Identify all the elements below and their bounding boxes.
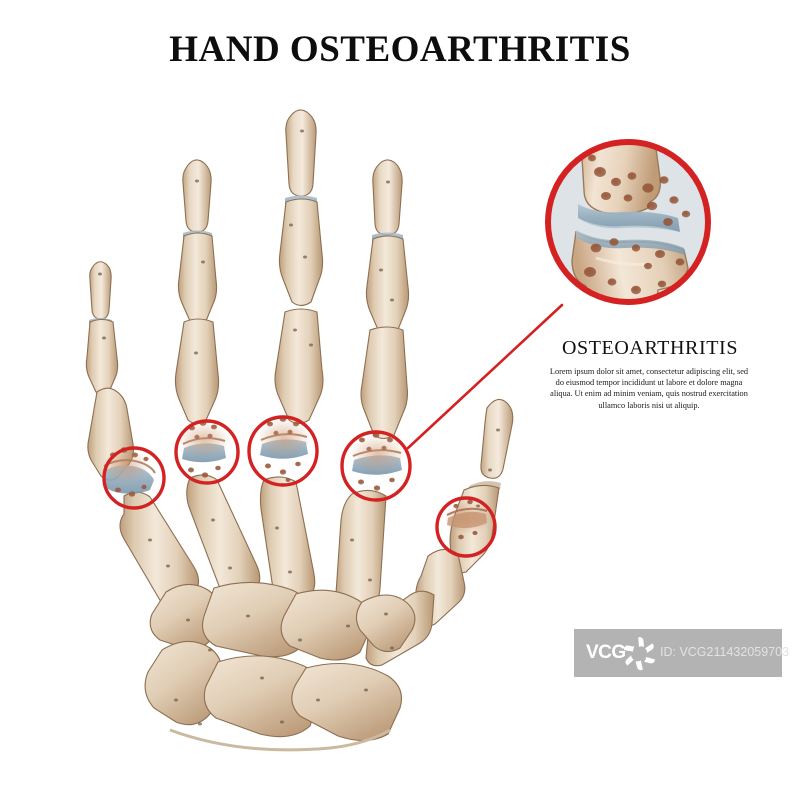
bone-ring-finger	[175, 160, 218, 424]
page-title: HAND OSTEOARTHRITIS	[0, 28, 800, 71]
bone-metacarpals	[120, 475, 434, 666]
joint-circle-ring-finger[interactable]	[176, 421, 238, 483]
bone-index-finger	[361, 160, 409, 439]
illustration-canvas: HAND OSTEOARTHRITIS	[0, 0, 800, 800]
joint-circle-index-finger[interactable]	[342, 432, 410, 500]
inset-joint-drawing	[572, 110, 690, 356]
inset-ring	[548, 142, 708, 302]
bone-middle-finger	[275, 110, 323, 424]
watermark-brand: VCG	[586, 642, 626, 664]
watermark-id: ID: VCG211432059703	[660, 645, 789, 659]
joint-circle-little-finger[interactable]	[104, 448, 164, 508]
watermark-panel: VCG ID: VCG211432059703	[574, 629, 782, 677]
osteoarthritic-joints	[103, 416, 489, 539]
bone-carpals	[145, 582, 415, 749]
bone-foramina	[98, 130, 500, 726]
bone-little-finger	[86, 262, 133, 480]
vcg-flower-logo	[622, 635, 658, 671]
leader-line-index-to-inset	[408, 305, 562, 448]
callout-body-text: Lorem ipsum dolor sit amet, consectetur …	[549, 366, 749, 411]
callout-heading: OSTEOARTHRITIS	[520, 337, 780, 360]
joint-circle-thumb[interactable]	[437, 498, 495, 556]
bone-thumb	[416, 399, 513, 625]
inset-background	[548, 142, 708, 302]
joint-circle-middle-finger[interactable]	[249, 417, 317, 485]
